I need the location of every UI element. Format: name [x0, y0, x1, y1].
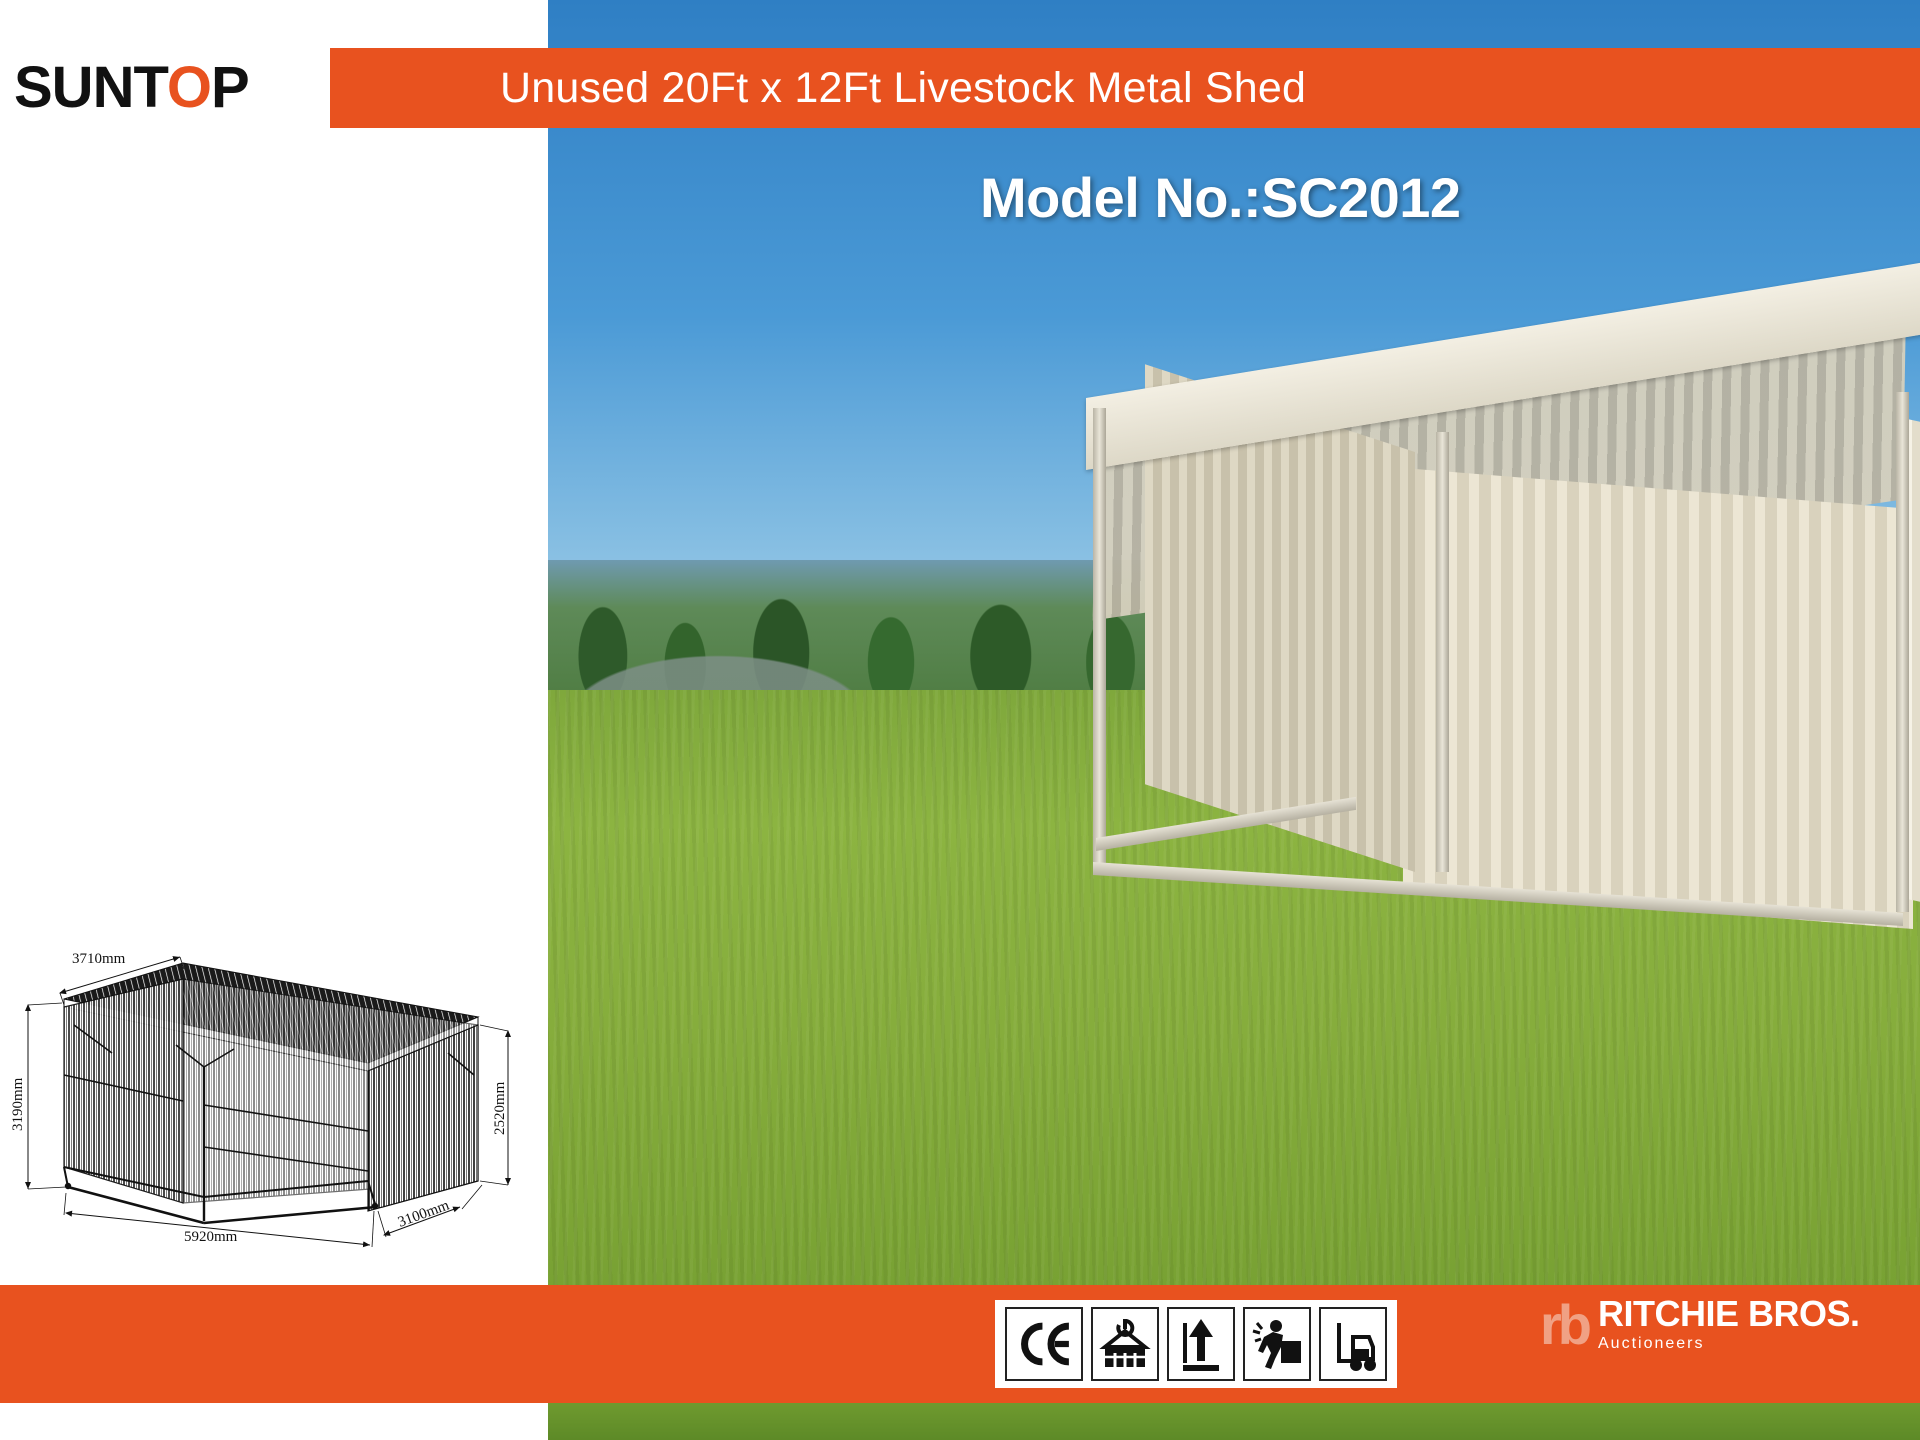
- dim-depth-label: 3100mm: [396, 1197, 452, 1230]
- model-number: Model No.:SC2012: [980, 165, 1461, 230]
- ritchie-bros-logo: rb RITCHIE BROS. Auctioneers: [1540, 1296, 1860, 1353]
- dim-left-label: 3190mm: [10, 1077, 26, 1131]
- rb-monogram: rb: [1540, 1297, 1588, 1353]
- dim-top-label: 3710mm: [72, 951, 126, 967]
- ce-mark-icon: [1005, 1307, 1083, 1381]
- shed-post-front-right: [1896, 392, 1909, 912]
- page-title: Unused 20Ft x 12Ft Livestock Metal Shed: [500, 48, 1600, 128]
- shed-back-wall: [1403, 468, 1913, 929]
- suntop-logo: SUNTOP: [0, 48, 330, 128]
- dim-bottom-label: 5920mm: [184, 1229, 238, 1245]
- forklift-icon: [1319, 1307, 1387, 1381]
- shed-post-center: [1436, 432, 1449, 872]
- this-way-up-icon: [1167, 1307, 1235, 1381]
- logo-prefix: SUNT: [14, 55, 167, 120]
- logo-accent-o: O: [167, 55, 211, 120]
- package-handling-icons: [995, 1300, 1397, 1388]
- rb-name: RITCHIE BROS.: [1598, 1296, 1860, 1332]
- dim-right-label: 2520mm: [492, 1081, 508, 1135]
- sling-lifting-icon: [1091, 1307, 1159, 1381]
- photo-bottom-grass: [548, 1403, 1920, 1440]
- logo-suffix: P: [211, 55, 249, 120]
- heavy-lift-person-icon: [1243, 1307, 1311, 1381]
- shed-post-front-left: [1093, 408, 1106, 870]
- rb-subtitle: Auctioneers: [1598, 1335, 1860, 1353]
- technical-drawing: 3710mm 3190mm 2520mm 5920mm 3100mm: [8, 935, 548, 1265]
